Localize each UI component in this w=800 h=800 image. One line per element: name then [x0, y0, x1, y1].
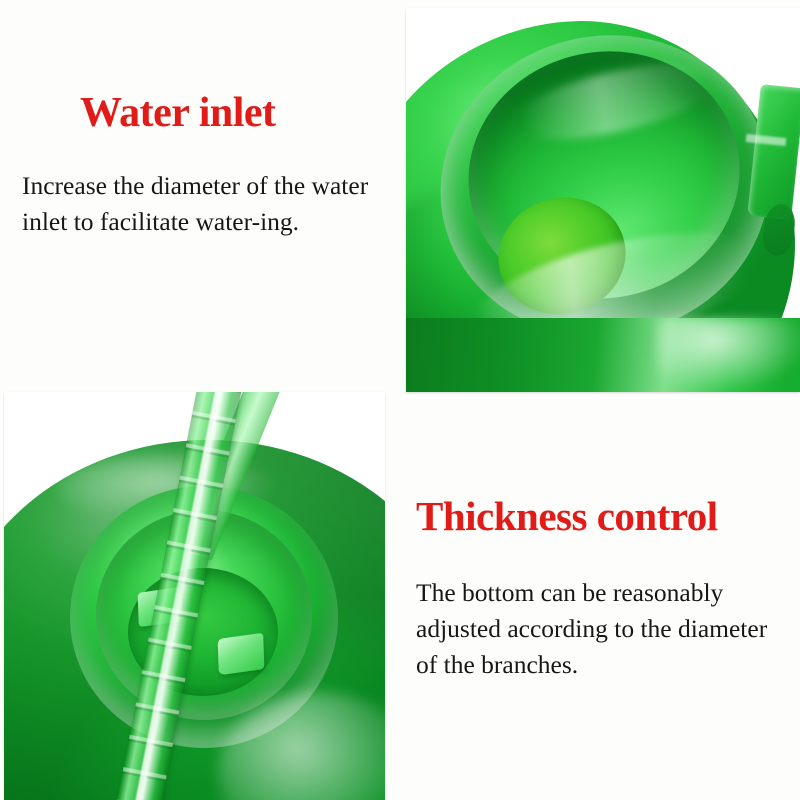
- base-gloss-highlight: [656, 318, 800, 392]
- water-inlet-heading: Water inlet: [80, 92, 394, 134]
- thickness-control-product-photo: [4, 392, 385, 800]
- thickness-control-heading: Thickness control: [416, 496, 800, 537]
- water-inlet-description: Increase the diameter of the water inlet…: [22, 168, 390, 240]
- thickness-control-description: The bottom can be reasonably adjusted ac…: [416, 575, 794, 684]
- infographic-canvas: Water inlet Increase the diameter of the…: [0, 0, 800, 800]
- water-inlet-product-photo: [406, 8, 800, 392]
- thickness-control-text-block: Thickness control The bottom can be reas…: [416, 496, 800, 684]
- water-inlet-text-block: Water inlet Increase the diameter of the…: [22, 92, 394, 240]
- mounting-strap-tab: [747, 84, 800, 220]
- adjustment-tab-right: [218, 633, 265, 676]
